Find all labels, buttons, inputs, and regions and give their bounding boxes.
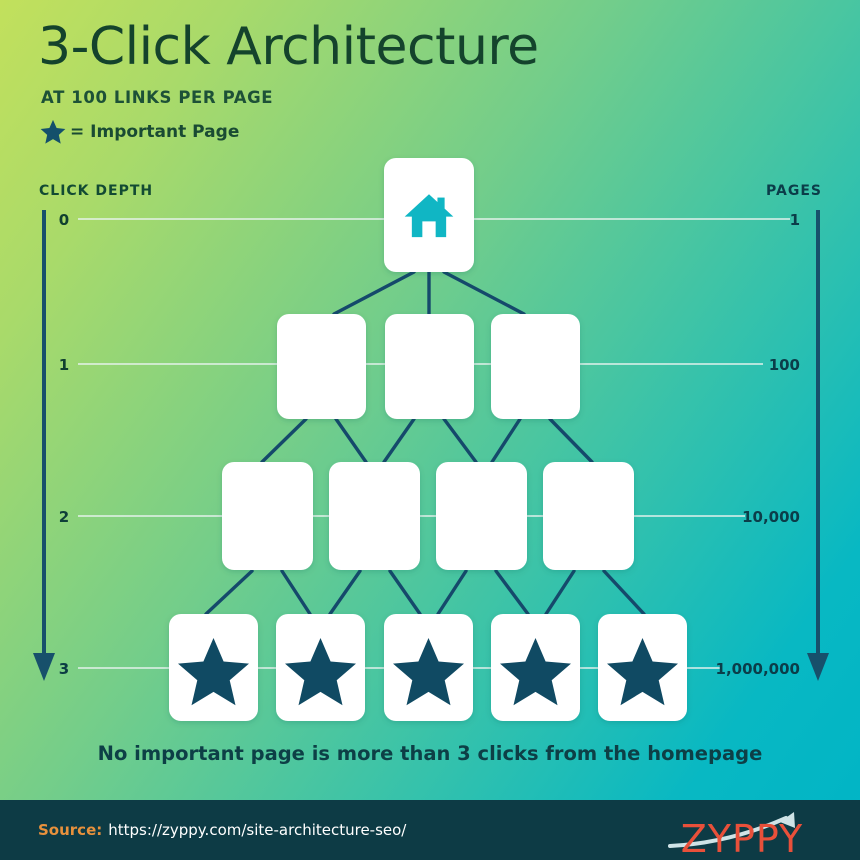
connector-2-3d (390, 571, 420, 614)
node-depth1-1[interactable] (277, 314, 366, 419)
pages-axis-arrow (807, 210, 829, 681)
pages-value-3: 1,000,000 (716, 660, 800, 678)
footer-bar: Source: https://zyppy.com/site-architect… (0, 800, 860, 860)
node-depth1-3[interactable] (491, 314, 580, 419)
connector-1-2e (492, 419, 520, 462)
node-depth3-2[interactable] (276, 614, 365, 721)
connector-2-3b (282, 571, 310, 614)
row-depth1 (277, 314, 580, 419)
connector-2-3a (206, 571, 252, 614)
depth-tick-2: 2 (59, 508, 69, 526)
connector-2-3c (330, 571, 360, 614)
connector-2-3g (546, 571, 574, 614)
connector-0-1a (334, 272, 414, 314)
source-url[interactable]: https://zyppy.com/site-architecture-seo/ (108, 821, 406, 839)
node-depth1-2[interactable] (385, 314, 474, 419)
node-depth2-3[interactable] (436, 462, 527, 570)
node-depth2-4[interactable] (543, 462, 634, 570)
node-depth3-1[interactable] (169, 614, 258, 721)
guide-rules (78, 219, 790, 668)
connector-1-2a (262, 419, 306, 462)
node-depth2-2[interactable] (329, 462, 420, 570)
connector-1-2f (550, 419, 592, 462)
pages-value-1: 100 (769, 356, 800, 374)
connector-1-2b (336, 419, 366, 462)
zyppy-logo[interactable]: ZYPPY (654, 808, 834, 856)
node-depth2-1[interactable] (222, 462, 313, 570)
connector-1-2d (444, 419, 476, 462)
source-line: Source: https://zyppy.com/site-architect… (38, 821, 406, 839)
connector-1-2c (384, 419, 414, 462)
source-label: Source: (38, 821, 102, 839)
connector-0-1c (444, 272, 524, 314)
depth-tick-1: 1 (59, 356, 69, 374)
infographic-canvas: 3-Click Architecture AT 100 LINKS PER PA… (0, 0, 860, 860)
pages-value-2: 10,000 (742, 508, 800, 526)
connector-2-3h (604, 571, 644, 614)
row-depth3 (169, 614, 687, 721)
diagram-caption: No important page is more than 3 clicks … (0, 742, 860, 765)
connector-2-3e (438, 571, 466, 614)
node-depth3-4[interactable] (491, 614, 580, 721)
node-depth3-5[interactable] (598, 614, 687, 721)
click-depth-axis-arrow (33, 210, 55, 681)
node-depth0-home[interactable] (384, 158, 474, 272)
node-depth3-3[interactable] (384, 614, 473, 721)
depth-tick-0: 0 (59, 211, 69, 229)
logo-text: ZYPPY (681, 817, 803, 856)
pages-value-0: 1 (790, 211, 800, 229)
architecture-diagram: 0 1 2 3 1 100 10,000 1,000,000 (0, 0, 860, 860)
connector-2-3f (496, 571, 528, 614)
depth-tick-3: 3 (59, 660, 69, 678)
